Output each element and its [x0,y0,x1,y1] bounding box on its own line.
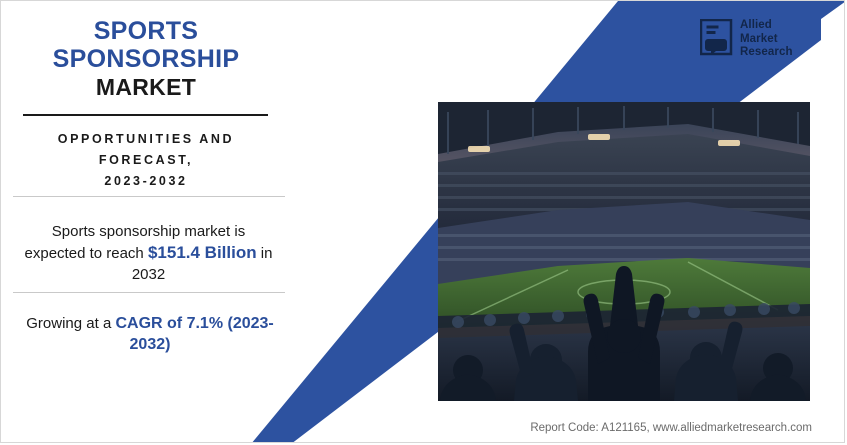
brand-name-line-2: Market [740,33,778,45]
stadium-crowd-photo [438,102,810,401]
subtitle-line-3: 2023-2032 [104,174,187,188]
brand-logo[interactable]: Allied Market Research [698,15,818,63]
subtitle-line-1: OPPORTUNITIES AND [58,132,234,146]
brand-name-line-3: Research [740,46,793,58]
allied-market-research-logo-mark-icon [700,19,736,57]
divider-above-stat-2 [13,292,285,293]
stat-cagr: Growing at a CAGR of 7.1% (2023-2032) [19,313,281,355]
report-code-footer: Report Code: A121165, www.alliedmarketre… [1,422,844,434]
left-text-column: SPORTS SPONSORSHIP MARKET OPPORTUNITIES … [1,1,301,443]
subtitle-line-2: FORECAST, [99,153,193,167]
brand-name-line-1: Allied [740,19,772,31]
title-line-1: SPORTS [94,17,199,45]
page-title: SPORTS SPONSORSHIP MARKET [1,17,291,101]
divider-under-title [23,114,268,116]
divider-above-stat-1 [13,196,285,197]
title-line-3: MARKET [1,73,291,101]
stat-market-value: Sports sponsorship market is expected to… [21,221,276,285]
brand-logo-text: Allied Market Research [740,19,793,60]
stat-cagr-prefix: Growing at a [26,315,115,332]
subtitle: OPPORTUNITIES AND FORECAST, 2023-2032 [1,129,291,192]
market-report-card: SPORTS SPONSORSHIP MARKET OPPORTUNITIES … [0,0,845,443]
stat-cagr-highlight: CAGR of 7.1% (2023-2032) [115,315,273,353]
title-line-2: SPONSORSHIP [53,45,240,73]
stadium-crowd-illustration [438,102,810,401]
stat-market-value-highlight: $151.4 Billion [148,243,257,262]
